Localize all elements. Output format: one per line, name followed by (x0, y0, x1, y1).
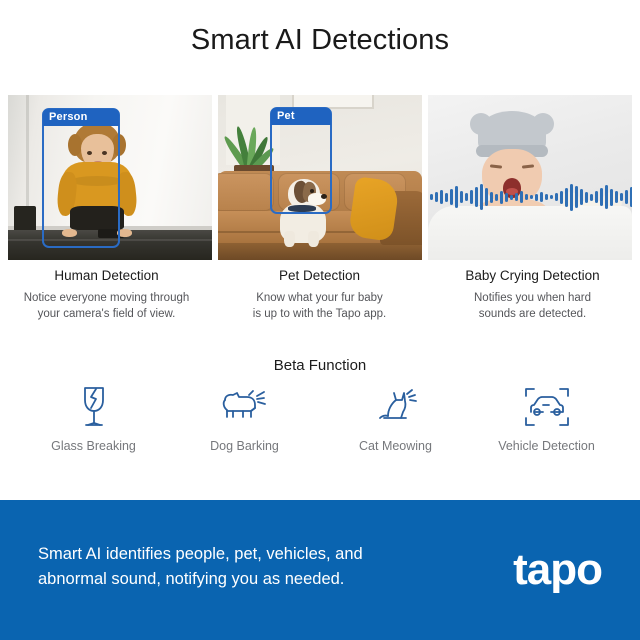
caption-pet-detection: Pet Detection Know what your fur baby is… (213, 268, 426, 322)
waveform-bar (595, 191, 598, 203)
car-focus-frame-icon (471, 383, 622, 431)
caption-line: your camera's field of view. (0, 307, 213, 323)
caption-line: Notifies you when hard (426, 291, 639, 307)
beta-label: Cat Meowing (320, 439, 471, 453)
waveform-bar (575, 186, 578, 208)
waveform-bar (545, 194, 548, 200)
waveform-bar (455, 186, 458, 208)
beta-function-heading: Beta Function (0, 357, 640, 374)
caption-description: Know what your fur baby is up to with th… (213, 291, 426, 322)
caption-title: Baby Crying Detection (426, 268, 639, 283)
waveform-bar (430, 194, 433, 200)
page-title: Smart AI Detections (0, 24, 640, 57)
beta-label: Glass Breaking (18, 439, 169, 453)
beta-item-dog-barking[interactable]: Dog Barking (169, 383, 320, 453)
waveform-bar (515, 193, 518, 201)
waveform-bar (540, 192, 543, 202)
waveform-bar (610, 189, 613, 206)
caption-description: Notice everyone moving through your came… (0, 291, 213, 322)
baby-eye-right (522, 164, 534, 168)
banner-line-1: Smart AI identifies people, pet, vehicle… (38, 542, 458, 567)
baby-eye-left (490, 164, 502, 168)
detection-box-pet: Pet (270, 107, 332, 214)
waveform-bar (590, 194, 593, 201)
banner-line-2: abnormal sound, notifying you as needed. (38, 567, 458, 592)
caption-line: sounds are detected. (426, 307, 639, 323)
waveform-bar (605, 185, 608, 209)
detection-box-person: Person (42, 108, 120, 248)
waveform-bar (445, 193, 448, 202)
banner-text: Smart AI identifies people, pet, vehicle… (38, 542, 458, 592)
dog-leg (284, 231, 295, 247)
waveform-bar (625, 190, 628, 204)
waveform-bar (600, 188, 603, 206)
dog-leg (308, 231, 319, 247)
beta-function-row: Glass Breaking Dog Barking (18, 383, 622, 453)
waveform-bar (560, 191, 563, 204)
beta-label: Vehicle Detection (471, 439, 622, 453)
tapo-logo: tapo (513, 548, 602, 592)
audio-waveform (428, 181, 632, 213)
cat-meowing-icon (320, 383, 471, 431)
beta-item-cat-meowing[interactable]: Cat Meowing (320, 383, 471, 453)
waveform-bar (465, 193, 468, 201)
waveform-bar (470, 190, 473, 204)
waveform-bar (475, 187, 478, 207)
caption-description: Notifies you when hard sounds are detect… (426, 291, 639, 322)
waveform-bar (500, 191, 503, 204)
waveform-bar (530, 195, 533, 199)
waveform-bar (495, 194, 498, 201)
panel-baby-crying-detection (428, 95, 632, 260)
dog-barking-icon (169, 383, 320, 431)
caption-human-detection: Human Detection Notice everyone moving t… (0, 268, 213, 322)
waveform-bar (520, 191, 523, 203)
waveform-bar (585, 192, 588, 203)
feature-image-row: Person (8, 95, 632, 260)
beta-item-glass-breaking[interactable]: Glass Breaking (18, 383, 169, 453)
sofa-cushion (218, 173, 274, 211)
waveform-bar (490, 192, 493, 203)
waveform-bar (580, 189, 583, 205)
panel-pet-detection: Pet (218, 95, 422, 260)
detection-label-person: Person (43, 109, 119, 126)
broken-wine-glass-icon (18, 383, 169, 431)
white-blanket (428, 206, 632, 260)
waveform-bar (620, 193, 623, 201)
waveform-bar (480, 184, 483, 210)
waveform-bar (435, 192, 438, 202)
waveform-bar (615, 191, 618, 203)
caption-title: Human Detection (0, 268, 213, 283)
footer-banner: Smart AI identifies people, pet, vehicle… (0, 500, 640, 640)
waveform-bar (525, 194, 528, 200)
waveform-bar (565, 188, 568, 207)
waveform-bar (485, 188, 488, 206)
caption-title: Pet Detection (213, 268, 426, 283)
waveform-bar (450, 189, 453, 205)
waveform-bar (555, 193, 558, 201)
yellow-pillow (348, 176, 400, 242)
caption-baby-crying-detection: Baby Crying Detection Notifies you when … (426, 268, 639, 322)
caption-row: Human Detection Notice everyone moving t… (0, 268, 640, 322)
waveform-bar (630, 187, 632, 207)
waveform-bar (510, 195, 513, 200)
waveform-bar (440, 190, 443, 204)
floor-object (14, 206, 36, 230)
waveform-bar (505, 193, 508, 202)
waveform-bar (550, 195, 553, 199)
waveform-bar (570, 184, 573, 211)
caption-line: Know what your fur baby (213, 291, 426, 307)
smart-ai-detections-page: Smart AI Detections (0, 0, 640, 640)
caption-line: is up to with the Tapo app. (213, 307, 426, 323)
beta-item-vehicle-detection[interactable]: Vehicle Detection (471, 383, 622, 453)
waveform-bar (535, 194, 538, 201)
detection-label-pet: Pet (271, 108, 331, 125)
waveform-bar (460, 191, 463, 203)
panel-human-detection: Person (8, 95, 212, 260)
caption-line: Notice everyone moving through (0, 291, 213, 307)
beta-label: Dog Barking (169, 439, 320, 453)
sofa-base (218, 243, 422, 260)
